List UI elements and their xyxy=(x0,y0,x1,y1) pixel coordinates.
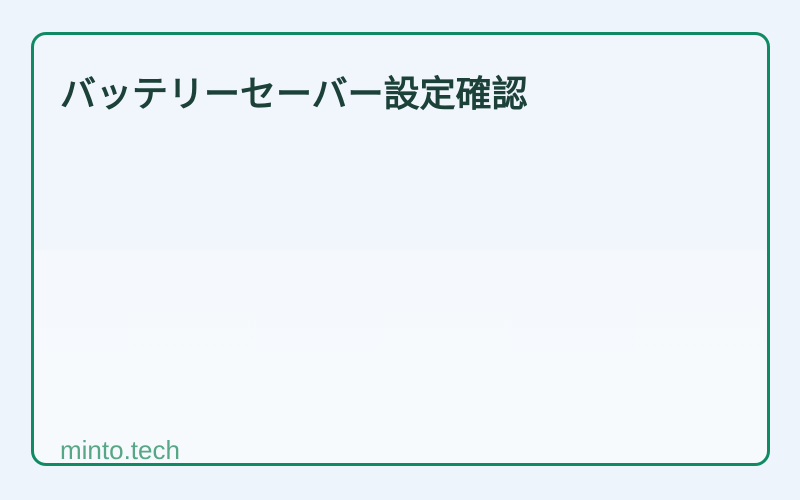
screenshot-canvas: バッテリーセーバー設定確認 minto.tech xyxy=(0,0,800,500)
content-card: バッテリーセーバー設定確認 xyxy=(31,32,770,466)
footer-brand-label: minto.tech xyxy=(60,434,180,466)
card-body-area xyxy=(60,145,741,393)
page-title: バッテリーセーバー設定確認 xyxy=(60,73,528,115)
